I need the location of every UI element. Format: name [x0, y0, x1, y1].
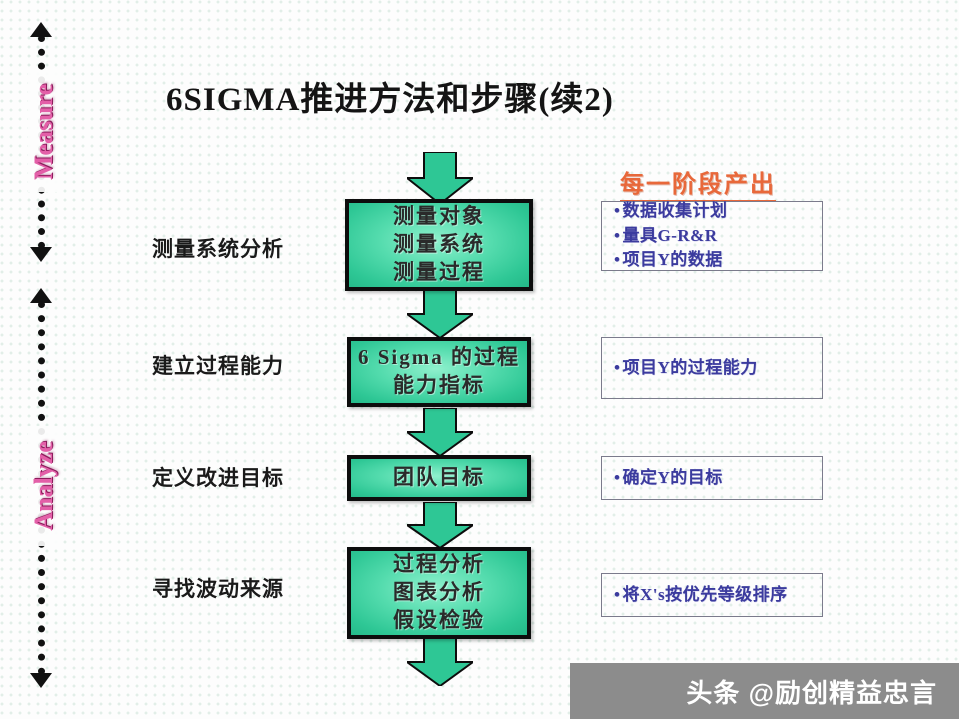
flow-box-line: 图表分析	[393, 579, 485, 607]
down-block-arrow-icon	[407, 290, 473, 338]
output-box-3[interactable]: 确定Y的目标	[601, 456, 823, 500]
down-block-arrow-icon	[407, 152, 473, 204]
flow-box-line: 过程分析	[393, 551, 485, 579]
down-block-arrow-icon	[407, 638, 473, 686]
stage-label-4: 寻找波动来源	[152, 573, 342, 603]
output-item: 项目Y的数据	[614, 248, 812, 273]
phase-label-measure: Measure	[28, 72, 60, 192]
output-box-2[interactable]: 项目Y的过程能力	[601, 337, 823, 399]
down-arrowhead-icon	[30, 247, 52, 262]
flow-box-line: 假设检验	[393, 607, 485, 635]
stage-label-2: 建立过程能力	[152, 350, 342, 380]
output-item: 项目Y的过程能力	[614, 356, 812, 381]
flow-box-3[interactable]: 团队目标	[347, 455, 531, 501]
flow-box-line: 测量系统	[393, 231, 485, 259]
output-item: 数据收集计划	[614, 199, 812, 224]
flow-box-line: 测量对象	[393, 203, 485, 231]
output-item: 量具G-R&R	[614, 224, 812, 249]
flow-box-line: 能力指标	[393, 372, 485, 400]
phase-rail-measure: Measure	[30, 22, 52, 262]
flow-box-line: 6 Sigma 的过程	[358, 344, 520, 372]
down-block-arrow-icon	[407, 408, 473, 456]
down-block-arrow-icon	[407, 502, 473, 548]
flow-box-1[interactable]: 测量对象 测量系统 测量过程	[345, 199, 533, 291]
page-title: 6SIGMA推进方法和步骤(续2)	[166, 72, 614, 120]
output-item: 将X's按优先等级排序	[614, 583, 812, 608]
phase-rail-analyze: Analyze	[30, 288, 52, 688]
down-arrowhead-icon	[30, 673, 52, 688]
stage-label-1: 测量系统分析	[152, 233, 342, 263]
phase-label-analyze: Analyze	[28, 426, 60, 546]
watermark-text: 头条 @励创精益忠言	[686, 673, 937, 710]
watermark-bar: 头条 @励创精益忠言	[570, 663, 959, 719]
stage-label-3: 定义改进目标	[152, 462, 342, 492]
output-box-1[interactable]: 数据收集计划 量具G-R&R 项目Y的数据	[601, 201, 823, 271]
output-box-4[interactable]: 将X's按优先等级排序	[601, 573, 823, 617]
flow-box-line: 团队目标	[393, 464, 485, 492]
output-item: 确定Y的目标	[614, 466, 812, 491]
flow-box-2[interactable]: 6 Sigma 的过程 能力指标	[347, 337, 531, 407]
flow-box-line: 测量过程	[393, 259, 485, 287]
outputs-column-title: 每一阶段产出	[620, 164, 776, 202]
flow-box-4[interactable]: 过程分析 图表分析 假设检验	[347, 547, 531, 639]
slide-canvas: 6SIGMA推进方法和步骤(续2) Measure Analyze 测量系统分析…	[0, 0, 959, 719]
